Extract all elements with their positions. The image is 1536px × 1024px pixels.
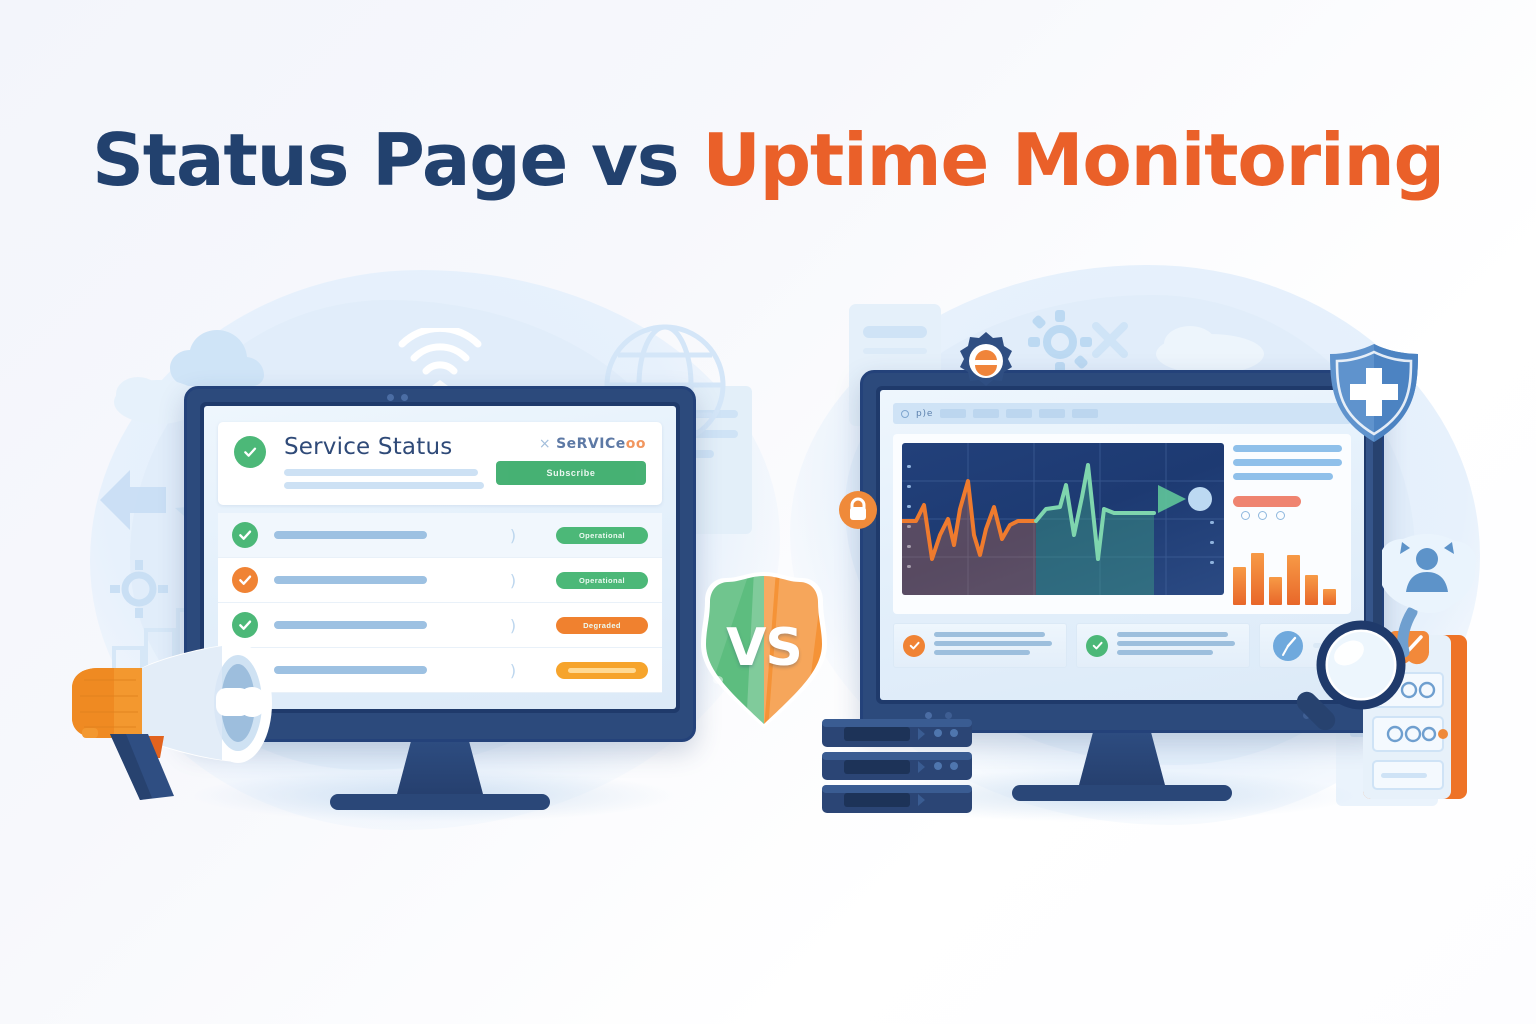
status-page-brand-block: ×SeRVICeoo Subscribe (496, 436, 646, 485)
lock-badge-icon (838, 490, 878, 530)
toolbar-segment (940, 409, 966, 418)
list-item[interactable] (1076, 623, 1250, 668)
table-row[interactable]: ) Operational (218, 558, 662, 603)
skeleton-line (284, 469, 478, 476)
chart-end-dot (1188, 487, 1212, 511)
dashboard-body (893, 434, 1351, 614)
skeleton-line (284, 482, 484, 489)
bar (1305, 575, 1318, 605)
wifi-icon (392, 328, 488, 392)
monitor-neck-left (397, 742, 483, 794)
arrow-icon (96, 455, 186, 545)
service-uptime-value: ) (470, 661, 556, 680)
service-uptime-value: ) (470, 616, 556, 635)
circle-icon (1241, 511, 1250, 520)
camera-dot-icon (401, 394, 408, 401)
toolbar-segment (1072, 409, 1098, 418)
gear-icon (1028, 310, 1092, 374)
service-uptime-value: ) (470, 526, 556, 545)
status-badge: Operational (556, 527, 648, 544)
service-name-skeleton (274, 531, 470, 539)
check-circle-icon (232, 522, 258, 548)
status-badge: Degraded (556, 617, 648, 634)
circle-icon (1276, 511, 1285, 520)
page-title-primary: Status Page vs (92, 118, 702, 202)
bar (1287, 555, 1300, 605)
toolbar-segment (973, 409, 999, 418)
circle-icon (901, 410, 909, 418)
alert-pill (1233, 496, 1301, 507)
gear-badge-icon (955, 330, 1017, 392)
toolbar-segment (1006, 409, 1032, 418)
vs-badge: VS (684, 570, 844, 730)
service-name-skeleton (274, 576, 470, 584)
brand-name: SeRVICe (556, 436, 626, 452)
url-text: p)e (916, 409, 933, 419)
brand-label: ×SeRVICeoo (496, 436, 646, 452)
dashboard-cards (893, 623, 1351, 668)
status-page-header: Service Status ×SeRVICeoo Subscribe (218, 422, 662, 505)
page-title-accent: Uptime Monitoring (702, 118, 1444, 202)
close-icon: × (539, 436, 551, 452)
status-page-title: Service Status (284, 436, 486, 459)
card-skeleton-lines (1117, 632, 1240, 659)
camera-dot-icon (387, 394, 394, 401)
bar (1251, 553, 1264, 605)
chart-svg (902, 443, 1224, 595)
monitor-neck-right (1079, 733, 1165, 785)
vs-label: VS (684, 570, 844, 730)
response-time-chart (902, 443, 1224, 595)
service-uptime-value: ) (470, 571, 556, 590)
check-circle-icon (234, 436, 266, 468)
check-circle-icon (232, 567, 258, 593)
brand-suffix: oo (626, 436, 646, 452)
megaphone-icon (56, 610, 316, 810)
table-row[interactable]: ) Operational (218, 513, 662, 558)
browser-toolbar: p)e (893, 403, 1351, 424)
toolbar-segment (1039, 409, 1065, 418)
check-circle-icon (1086, 635, 1108, 657)
status-badge (556, 662, 648, 679)
status-badge: Operational (556, 572, 648, 589)
card-skeleton-lines (934, 632, 1057, 659)
status-page-header-text: Service Status (284, 436, 486, 489)
subscribe-button[interactable]: Subscribe (496, 461, 646, 485)
check-circle-icon (903, 635, 925, 657)
magnifier-icon (1285, 615, 1415, 745)
page-title: Status Page vs Uptime Monitoring (0, 118, 1536, 202)
status-dot-group (1241, 507, 1289, 525)
close-icon (1088, 318, 1132, 362)
circle-icon (1258, 511, 1267, 520)
bar (1269, 577, 1282, 605)
list-item[interactable] (893, 623, 1067, 668)
cloud-icon (1150, 318, 1270, 376)
bar (1233, 567, 1246, 605)
play-triangle-icon (1158, 485, 1186, 513)
monitor-base-left (330, 794, 550, 810)
monitor-base-right (1012, 785, 1232, 801)
shield-plus-icon (1318, 340, 1438, 640)
server-rack-icon (818, 715, 978, 820)
